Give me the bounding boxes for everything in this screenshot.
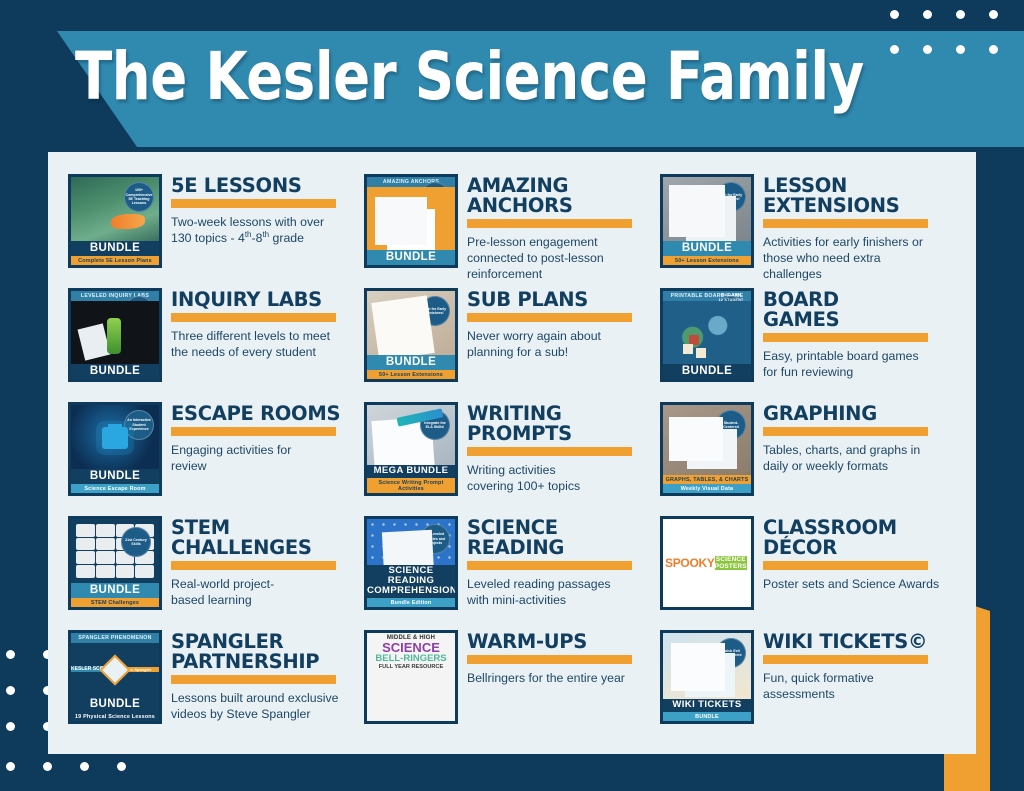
product-title: STEM CHALLENGES	[171, 518, 364, 558]
decor-dot	[923, 45, 932, 54]
product-description: Never worry again aboutplanning for a su…	[467, 328, 660, 361]
product-description: Fun, quick formativeassessments	[763, 670, 956, 703]
thumb-art	[663, 301, 751, 364]
decor-dot	[956, 45, 965, 54]
stem-icon	[96, 524, 115, 537]
accent-rule	[171, 199, 336, 208]
thumb-bundle-label: MEGA BUNDLE	[367, 465, 455, 478]
product-text: WIKI TICKETS©Fun, quick formativeassessm…	[763, 630, 956, 703]
product-text: INQUIRY LABSThree different levels to me…	[171, 288, 364, 361]
accent-rule	[467, 219, 632, 228]
product-thumbnail[interactable]: Amazing AnchorsPhenomenon AnchorsBUNDLE	[364, 174, 458, 268]
thumb-bundle-label: BUNDLE	[71, 469, 159, 484]
thumb-badge: Fun for Early Finishers!	[420, 296, 450, 326]
product-item[interactable]: Student-CenteredGRAPHS, TABLES, & CHARTS…	[660, 402, 956, 516]
thumb-sub-label: BUNDLE	[663, 712, 751, 721]
product-text: WARM-UPSBellringers for the entire year	[467, 630, 660, 686]
thumb-art	[367, 187, 455, 250]
thumb-art: 100+ Comprehensive 5E Teaching Lessons	[71, 177, 159, 241]
thumb-bundle-label: BUNDLE	[663, 364, 751, 379]
thumb-tiles	[747, 548, 749, 578]
stem-icon	[76, 524, 95, 537]
product-title: BOARD GAMES	[763, 290, 956, 330]
product-description: Writing activitiescovering 100+ topics	[467, 462, 660, 495]
product-title: INQUIRY LABS	[171, 290, 364, 310]
product-thumbnail[interactable]: PRINTABLE BOARD GAMEIncludes 12 Student …	[660, 288, 754, 382]
product-text: CLASSROOM DÉCORPoster sets and Science A…	[763, 516, 956, 592]
decor-dots-left	[6, 650, 52, 731]
thumb-badge: Quick Exit Assessment	[716, 638, 746, 668]
thumb-badge: 100+ Comprehensive 5E Teaching Lessons	[124, 182, 154, 212]
thumb-art: Integrate the ELA Skills!	[367, 405, 455, 465]
thumb-art: Student-Centered	[663, 405, 751, 475]
product-text: LESSON EXTENSIONSActivities for early fi…	[763, 174, 956, 283]
thumb-sub-label: Science Escape Room	[71, 484, 159, 493]
thumb-line-3: BELL-RINGERS	[375, 654, 446, 664]
thumb-bundle-label: BUNDLE	[663, 241, 751, 256]
thumb-bundle-label: WIKI TICKETS	[663, 699, 751, 712]
product-grid: 100+ Comprehensive 5E Teaching LessonsBU…	[68, 174, 956, 744]
decor-dots-top-right	[890, 10, 998, 54]
thumb-art: SPOOKYSCIENCE POSTERS	[663, 519, 751, 607]
thumb-subheading: SCIENCE POSTERS	[715, 556, 747, 570]
stem-icon	[135, 565, 154, 578]
decor-dot	[117, 762, 126, 771]
thumb-sub-label-2: Weekly Visual Data	[663, 484, 751, 493]
product-description: Tables, charts, and graphs indaily or we…	[763, 442, 956, 475]
decor-dot	[6, 762, 15, 771]
thumb-top-label: Leveled Inquiry LabsHands-On Learning	[71, 291, 159, 301]
decor-navy-edge	[990, 596, 1024, 791]
accent-rule	[763, 427, 928, 436]
product-item[interactable]: 100+ Comprehensive 5E Teaching LessonsBU…	[68, 174, 364, 288]
decor-dot	[956, 10, 965, 19]
product-item[interactable]: Leveled Inquiry LabsHands-On LearningBUN…	[68, 288, 364, 402]
content-card: 100+ Comprehensive 5E Teaching LessonsBU…	[48, 152, 976, 754]
product-item[interactable]: Integrate the ELA Skills!MEGA BUNDLEScie…	[364, 402, 660, 516]
product-thumbnail[interactable]: Leveled Inquiry LabsHands-On LearningBUN…	[68, 288, 162, 382]
product-text: AMAZING ANCHORSPre-lesson engagementconn…	[467, 174, 660, 283]
thumb-art: An Interactive Student Experience	[71, 405, 159, 469]
thumb-badge: Fun for Early Finishers!	[716, 182, 746, 212]
stem-icon	[116, 565, 135, 578]
accent-rule	[467, 561, 632, 570]
thumb-sub-label: STEM Challenges	[71, 598, 159, 607]
thumb-sub-label: 19 Physical Science Lessons	[71, 712, 159, 721]
product-title: ESCAPE ROOMS	[171, 404, 364, 424]
product-item[interactable]: SPANGLER PHENOMENONKESLER SCIENCESteve S…	[68, 630, 364, 744]
thumb-art: Fun for Early Finishers!	[367, 291, 455, 355]
thumb-top-label: SPANGLER PHENOMENON	[71, 633, 159, 643]
accent-rule	[467, 655, 632, 664]
product-title: 5E LESSONS	[171, 176, 364, 196]
accent-rule	[171, 675, 336, 684]
product-thumbnail[interactable]: Student-CenteredGRAPHS, TABLES, & CHARTS…	[660, 402, 754, 496]
product-text: SUB PLANSNever worry again aboutplanning…	[467, 288, 660, 361]
thumb-tiles	[408, 670, 414, 688]
decor-dots-bottom	[6, 762, 126, 771]
product-description: Leveled reading passageswith mini-activi…	[467, 576, 660, 609]
product-item[interactable]: Quick Exit AssessmentWIKI TICKETSBUNDLEW…	[660, 630, 956, 744]
thumb-bundle-label: BUNDLE	[367, 355, 455, 370]
thumb-sub-label: Complete 5E Lesson Plans	[71, 256, 159, 265]
decor-dot	[923, 10, 932, 19]
product-thumbnail[interactable]: SPOOKYSCIENCE POSTERS	[660, 516, 754, 610]
product-item[interactable]: MIDDLE & HIGHSCIENCEBELL-RINGERSFULL YEA…	[364, 630, 660, 744]
decor-dot	[989, 10, 998, 19]
product-title: CLASSROOM DÉCOR	[763, 518, 956, 558]
product-title: SUB PLANS	[467, 290, 660, 310]
product-description: Real-world project-based learning	[171, 576, 364, 609]
thumb-art	[71, 301, 159, 364]
accent-rule	[763, 333, 928, 342]
product-text: SPANGLER PARTNERSHIPLessons built around…	[171, 630, 364, 722]
product-text: SCIENCE READINGLeveled reading passagesw…	[467, 516, 660, 608]
product-text: ESCAPE ROOMSEngaging activities forrevie…	[171, 402, 364, 475]
accent-rule	[171, 313, 336, 322]
diamond-shape	[99, 654, 130, 685]
thumb-badge: 21st Century Skills	[121, 527, 151, 557]
product-description: Two-week lessons with over130 topics - 4…	[171, 214, 364, 247]
product-description: Pre-lesson engagementconnected to post-l…	[467, 234, 660, 283]
product-item[interactable]: 40 Leveled Articles and ProjectsSCIENCE …	[364, 516, 660, 630]
thumb-top-label: Amazing AnchorsPhenomenon Anchors	[367, 177, 455, 187]
thumb-sub-label: 50+ Lesson Extensions	[367, 370, 455, 379]
thumb-sub-label: 50+ Lesson Extensions	[663, 256, 751, 265]
product-title: SPANGLER PARTNERSHIP	[171, 632, 364, 672]
poster-canvas: The Kesler Science Family	[0, 0, 1024, 791]
accent-rule	[763, 561, 928, 570]
accent-rule	[467, 313, 632, 322]
thumb-top-label: PRINTABLE BOARD GAMEIncludes 12 Student …	[663, 291, 751, 301]
thumb-bundle-label: BUNDLE	[367, 250, 455, 265]
stem-icon	[96, 551, 115, 564]
product-thumbnail[interactable]: 100+ Comprehensive 5E Teaching LessonsBU…	[68, 174, 162, 268]
product-thumbnail[interactable]: Fun for Early Finishers!BUNDLE50+ Lesson…	[364, 288, 458, 382]
thumb-badge: Student-Centered	[716, 410, 746, 440]
product-thumbnail[interactable]: An Interactive Student ExperienceBUNDLES…	[68, 402, 162, 496]
thumb-bundle-label: BUNDLE	[71, 697, 159, 712]
stem-icon	[76, 551, 95, 564]
thumb-bundle-label: BUNDLE	[71, 364, 159, 379]
decor-dot	[6, 722, 15, 731]
product-thumbnail[interactable]: SPANGLER PHENOMENONKESLER SCIENCESteve S…	[68, 630, 162, 724]
decor-dot	[890, 10, 899, 19]
product-item[interactable]: An Interactive Student ExperienceBUNDLES…	[68, 402, 364, 516]
accent-rule	[171, 427, 336, 436]
product-item[interactable]: SPOOKYSCIENCE POSTERSCLASSROOM DÉCORPost…	[660, 516, 956, 630]
stem-icon	[76, 565, 95, 578]
thumb-art: 21st Century Skills	[71, 519, 159, 583]
product-title: WARM-UPS	[467, 632, 660, 652]
product-title: LESSON EXTENSIONS	[763, 176, 956, 216]
decor-dot	[43, 762, 52, 771]
product-text: 5E LESSONSTwo-week lessons with over130 …	[171, 174, 364, 247]
thumb-art: KESLER SCIENCESteve Spangler	[71, 643, 159, 697]
product-description: Engaging activities forreview	[171, 442, 364, 475]
thumb-art: Fun for Early Finishers!	[663, 177, 751, 241]
product-description: Poster sets and Science Awards	[763, 576, 956, 592]
product-thumbnail[interactable]: Fun for Early Finishers!BUNDLE50+ Lesson…	[660, 174, 754, 268]
product-title: AMAZING ANCHORS	[467, 176, 660, 216]
thumb-bundle-label: SCIENCE READING COMPREHENSION	[367, 565, 455, 598]
product-title: GRAPHING	[763, 404, 956, 424]
thumb-sub-label: Bundle Edition	[367, 598, 455, 607]
thumb-art: 40 Leveled Articles and Projects	[367, 519, 455, 565]
product-description: Easy, printable board gamesfor fun revie…	[763, 348, 956, 381]
thumb-heading: SPOOKY	[665, 557, 715, 569]
product-text: WRITING PROMPTSWriting activitiescoverin…	[467, 402, 660, 494]
thumb-sub-label: Science Writing Prompt Activities	[367, 478, 455, 493]
product-thumbnail[interactable]: Integrate the ELA Skills!MEGA BUNDLEScie…	[364, 402, 458, 496]
decor-dot	[989, 45, 998, 54]
product-thumbnail[interactable]: Quick Exit AssessmentWIKI TICKETSBUNDLE	[660, 630, 754, 724]
product-thumbnail[interactable]: 21st Century SkillsBUNDLESTEM Challenges	[68, 516, 162, 610]
product-text: GRAPHINGTables, charts, and graphs indai…	[763, 402, 956, 475]
thumb-badge: Integrate the ELA Skills!	[420, 410, 450, 440]
stem-icon	[96, 565, 115, 578]
product-item[interactable]: 21st Century SkillsBUNDLESTEM Challenges…	[68, 516, 364, 630]
product-description: Lessons built around exclusivevideos by …	[171, 690, 364, 723]
stem-icon	[96, 538, 115, 551]
product-description: Activities for early finishers orthose w…	[763, 234, 956, 283]
accent-rule	[171, 561, 336, 570]
product-title: SCIENCE READING	[467, 518, 660, 558]
thumb-badge: 40 Leveled Articles and Projects	[420, 524, 450, 554]
decor-dot	[80, 762, 89, 771]
accent-rule	[763, 219, 928, 228]
product-item[interactable]: Fun for Early Finishers!BUNDLE50+ Lesson…	[660, 174, 956, 288]
thumb-art: MIDDLE & HIGHSCIENCEBELL-RINGERSFULL YEA…	[367, 633, 455, 721]
stem-icon	[76, 538, 95, 551]
product-description: Bellringers for the entire year	[467, 670, 660, 686]
product-title: WIKI TICKETS©	[763, 632, 956, 652]
product-thumbnail[interactable]: 40 Leveled Articles and ProjectsSCIENCE …	[364, 516, 458, 610]
decor-dot	[6, 650, 15, 659]
product-title: WRITING PROMPTS	[467, 404, 660, 444]
page-title: The Kesler Science Family	[75, 44, 864, 110]
product-item[interactable]: Fun for Early Finishers!BUNDLE50+ Lesson…	[364, 288, 660, 402]
accent-rule	[763, 655, 928, 664]
thumb-sub-label: GRAPHS, TABLES, & CHARTS	[663, 475, 751, 484]
product-item[interactable]: PRINTABLE BOARD GAMEIncludes 12 Student …	[660, 288, 956, 402]
product-item[interactable]: Amazing AnchorsPhenomenon AnchorsBUNDLEA…	[364, 174, 660, 288]
product-description: Three different levels to meetthe needs …	[171, 328, 364, 361]
product-text: BOARD GAMESEasy, printable board gamesfo…	[763, 288, 956, 380]
thumb-art: Quick Exit Assessment	[663, 633, 751, 699]
product-text: STEM CHALLENGESReal-world project-based …	[171, 516, 364, 608]
decor-dot	[890, 45, 899, 54]
thumb-badge: An Interactive Student Experience	[124, 410, 154, 440]
thumb-bundle-label: BUNDLE	[71, 583, 159, 598]
product-thumbnail[interactable]: MIDDLE & HIGHSCIENCEBELL-RINGERSFULL YEA…	[364, 630, 458, 724]
thumb-bundle-label: BUNDLE	[71, 241, 159, 256]
decor-dot	[6, 686, 15, 695]
accent-rule	[467, 447, 632, 456]
